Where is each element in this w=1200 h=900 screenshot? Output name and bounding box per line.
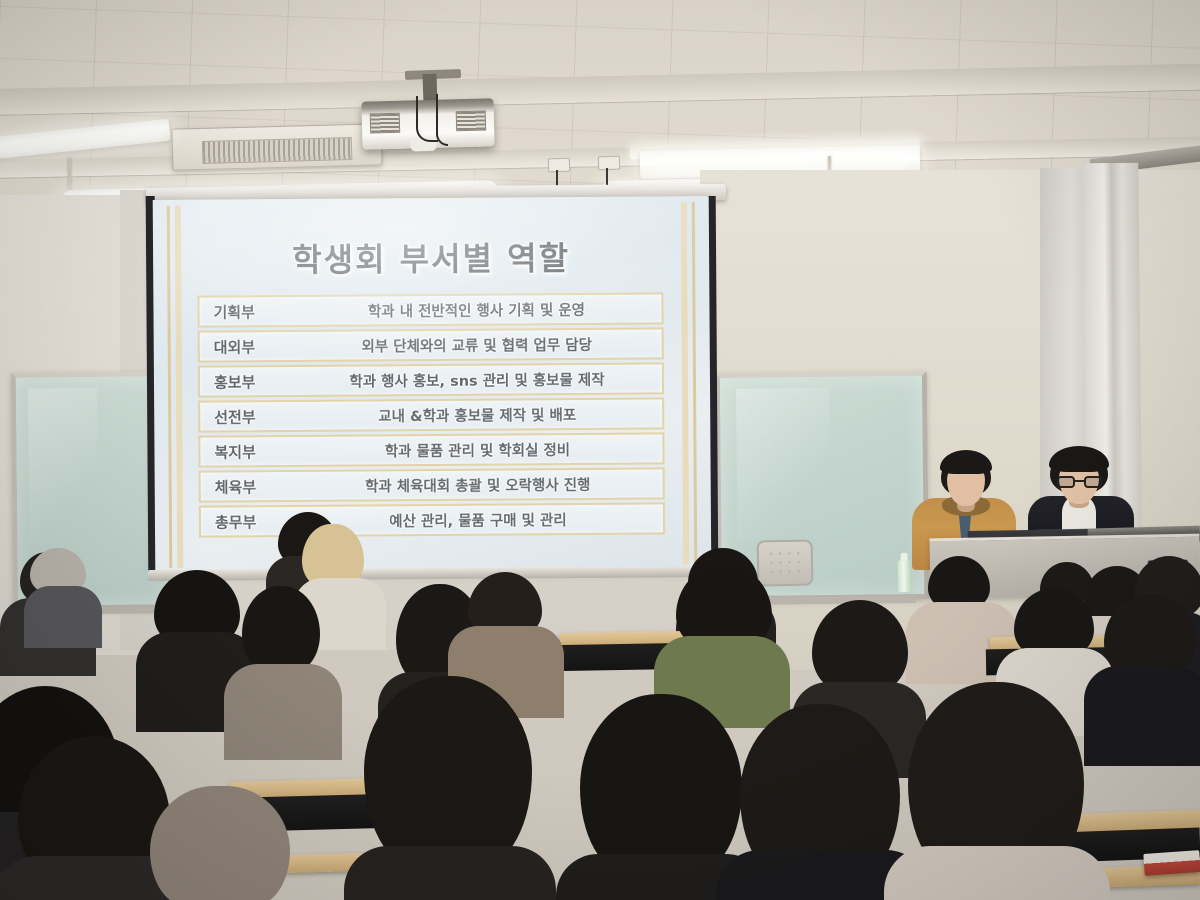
light-stem: [68, 158, 71, 190]
row-description: 외부 단체와의 교류 및 협력 업무 담당: [310, 333, 662, 356]
row-department: 복지부: [200, 440, 310, 462]
chair[interactable]: [757, 540, 814, 587]
projection-screen: 학생회 부서별 역할 기획부 학과 내 전반적인 행사 기획 및 운영 대외부 …: [153, 196, 712, 572]
slide-table: 기획부 학과 내 전반적인 행사 기획 및 운영 대외부 외부 단체와의 교류 …: [197, 292, 665, 540]
row-department: 대외부: [200, 335, 310, 357]
book-on-desk[interactable]: [1143, 850, 1200, 876]
ceiling-socket: [548, 158, 570, 173]
projector-cable: [436, 94, 448, 146]
row-department: 체육부: [201, 475, 311, 497]
ceiling-socket: [598, 156, 620, 171]
table-row: 총무부 예산 관리, 물품 구매 및 관리: [199, 502, 665, 537]
table-row: 홍보부 학과 행사 홍보, sns 관리 및 홍보물 제작: [198, 362, 664, 397]
table-row: 선전부 교내 &학과 홍보물 제작 및 배포: [198, 397, 664, 432]
air-conditioner-unit: [171, 123, 382, 170]
row-department: 기획부: [199, 300, 309, 322]
table-row: 체육부 학과 체육대회 총괄 및 오락행사 진행: [199, 467, 665, 502]
ac-grille-icon: [202, 137, 352, 164]
projector-vent-icon: [456, 111, 486, 131]
slide-title: 학생회 부서별 역할: [153, 232, 709, 282]
row-description: 학과 내 전반적인 행사 기획 및 운영: [309, 298, 661, 321]
table-row: 기획부 학과 내 전반적인 행사 기획 및 운영: [197, 292, 663, 327]
board-glare: [28, 388, 99, 548]
board-glare: [736, 388, 830, 542]
row-description: 예산 관리, 물품 구매 및 관리: [311, 508, 663, 531]
row-description: 학과 물품 관리 및 학회실 정비: [310, 438, 662, 461]
row-department: 선전부: [200, 405, 310, 427]
projector-cable: [416, 96, 438, 142]
row-description: 교내 &학과 홍보물 제작 및 배포: [310, 403, 662, 426]
glasses-icon: [1057, 476, 1102, 488]
table-row: 대외부 외부 단체와의 교류 및 협력 업무 담당: [198, 327, 664, 362]
row-description: 학과 행사 홍보, sns 관리 및 홍보물 제작: [310, 368, 662, 391]
table-row: 복지부 학과 물품 관리 및 학회실 정비: [198, 432, 664, 467]
projector-vent-icon: [370, 113, 400, 133]
lecture-hall-photo: 학생회 부서별 역할 기획부 학과 내 전반적인 행사 기획 및 운영 대외부 …: [0, 0, 1200, 900]
hand-sanitizer-bottle[interactable]: [898, 560, 912, 592]
row-description: 학과 체육대회 총괄 및 오락행사 진행: [311, 473, 663, 496]
row-department: 홍보부: [200, 370, 310, 392]
